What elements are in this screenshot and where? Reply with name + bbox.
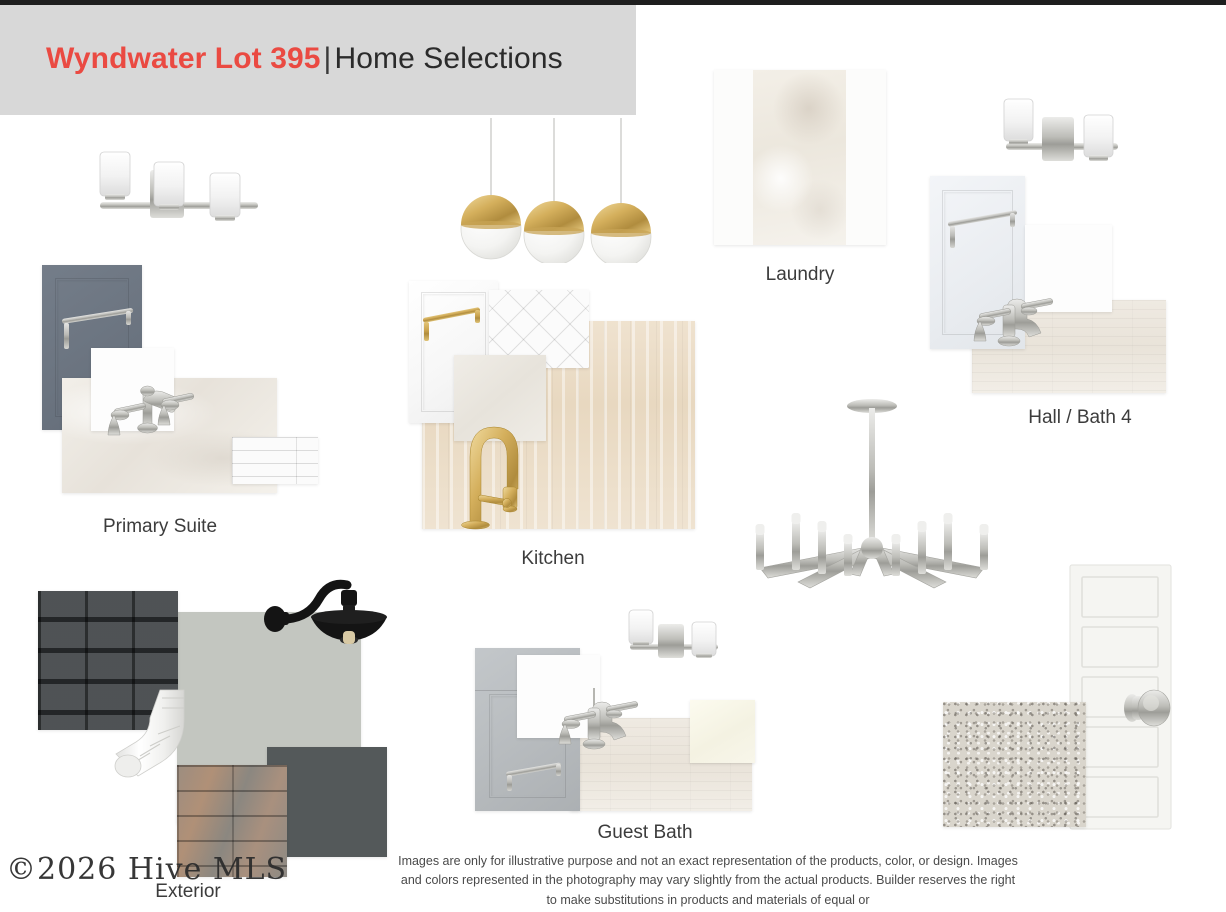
primary-cabinet-pull bbox=[62, 305, 137, 349]
disclaimer-text: Images are only for illustrative purpose… bbox=[398, 852, 1018, 910]
primary-faucet-widespread-icon bbox=[100, 370, 210, 455]
hall-cabinet-pull bbox=[948, 208, 1021, 250]
group-label-hall-bath-4: Hall / Bath 4 bbox=[980, 407, 1180, 429]
hall-vanity-light-2-bulb-icon bbox=[988, 95, 1133, 177]
hall-faucet-centerset-icon bbox=[963, 285, 1071, 358]
page-title-project: Wyndwater Lot 395 bbox=[46, 42, 321, 75]
kitchen-cabinet-pull bbox=[423, 306, 485, 340]
page-title-subtitle: Home Selections bbox=[334, 42, 562, 75]
pendant-globe-icon bbox=[455, 118, 675, 263]
guest-cabinet-pull bbox=[506, 760, 566, 790]
laundry-floor-tile bbox=[753, 70, 846, 245]
carpet-swatch bbox=[943, 702, 1086, 827]
group-label-laundry: Laundry bbox=[700, 264, 900, 286]
group-label-kitchen: Kitchen bbox=[453, 548, 653, 570]
primary-accent-tile bbox=[232, 437, 318, 484]
group-label-guest-bath: Guest Bath bbox=[545, 822, 745, 844]
page-title: Wyndwater Lot 395|Home Selections bbox=[46, 42, 563, 76]
guest-vanity-light-2-bulb-icon bbox=[618, 608, 728, 670]
kitchen-faucet-pulldown-icon bbox=[450, 395, 525, 530]
page-title-separator: | bbox=[321, 42, 335, 75]
guest-faucet-centerset-icon bbox=[548, 688, 656, 761]
exterior-downspout-icon bbox=[108, 688, 188, 780]
mls-watermark: ©2026 Hive MLS bbox=[6, 852, 287, 887]
door-knob-round-icon bbox=[1118, 680, 1178, 736]
vanity-light-3-bulb-icon bbox=[78, 140, 278, 240]
exterior-sconce-barn-icon bbox=[263, 575, 393, 665]
chandelier-8-arm-icon bbox=[752, 396, 992, 596]
group-label-primary-suite: Primary Suite bbox=[60, 516, 260, 538]
guest-countertop-swatch bbox=[690, 700, 755, 763]
